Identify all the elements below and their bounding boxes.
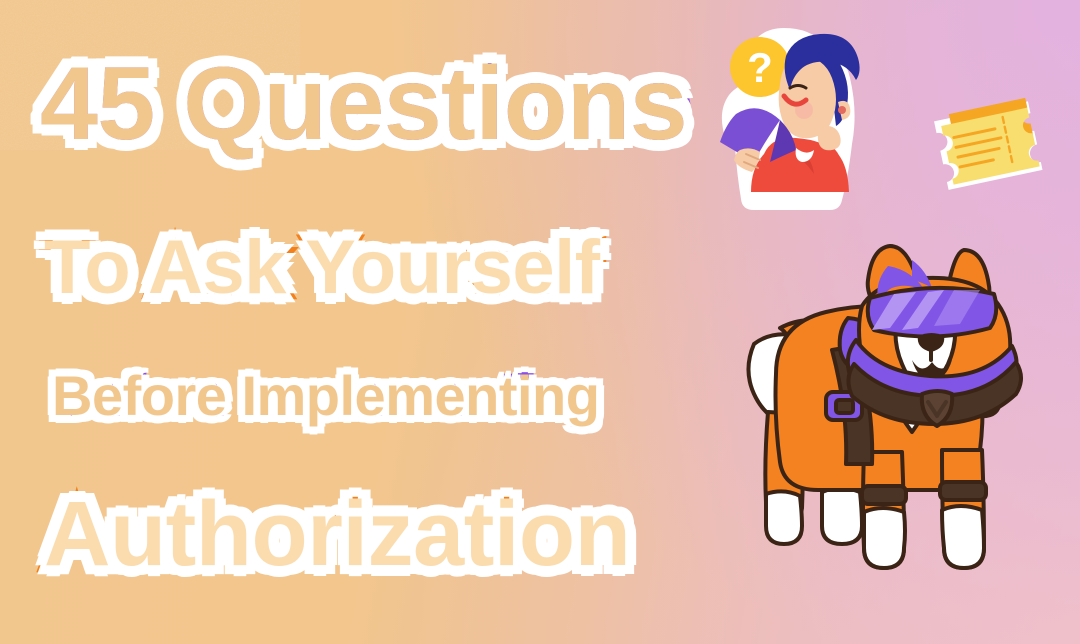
reading-person-sticker: ? bbox=[706, 22, 866, 212]
article-hero-banner: 45 Questions To Ask Yourself Before Impl… bbox=[0, 0, 1080, 644]
banner-title-block: 45 Questions To Ask Yourself Before Impl… bbox=[0, 0, 720, 644]
title-line-3: Before Implementing bbox=[52, 364, 599, 428]
title-line-4: Authorization bbox=[44, 484, 630, 584]
dog-leg-band-right bbox=[940, 482, 986, 500]
ticket-sticker bbox=[930, 96, 1052, 192]
title-line-1: 45 Questions bbox=[40, 48, 687, 160]
shiba-dog-mascot bbox=[736, 244, 1066, 584]
title-line-2: To Ask Yourself bbox=[44, 226, 600, 310]
dog-leg-band-left bbox=[862, 486, 906, 504]
question-mark-glyph: ? bbox=[747, 44, 773, 91]
